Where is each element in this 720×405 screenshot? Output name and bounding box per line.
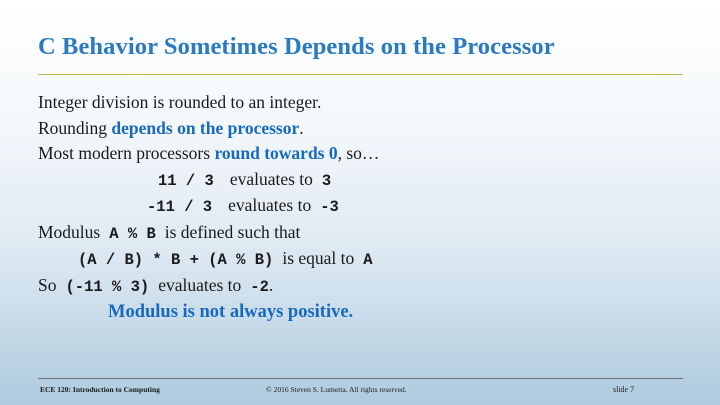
result-3: 3 xyxy=(322,172,331,190)
expr-11-div-3: 11 / 3 xyxy=(158,172,214,190)
body-line-2: Rounding depends on the processor. xyxy=(38,116,688,142)
slide-body: Integer division is rounded to an intege… xyxy=(38,90,688,326)
body-line-5: -11 / 3evaluates to-3 xyxy=(38,193,688,220)
slide: C Behavior Sometimes Depends on the Proc… xyxy=(0,0,720,405)
line5-text: evaluates to xyxy=(228,195,311,215)
footer-copyright: © 2016 Steven S. Lumetta. All rights res… xyxy=(266,385,407,394)
expr-neg11-mod-3: (-11 % 3) xyxy=(65,278,149,296)
line1-text: Integer division is rounded to an intege… xyxy=(38,92,321,112)
line8-period: . xyxy=(269,275,273,295)
line2-suffix: . xyxy=(299,118,303,138)
title-divider xyxy=(38,74,683,75)
line3-suffix: , so… xyxy=(338,143,380,163)
body-line-7: (A / B) * B + (A % B)is equal toA xyxy=(38,246,688,273)
line3-highlight: round towards 0 xyxy=(214,143,337,163)
line2-highlight: depends on the processor xyxy=(111,118,299,138)
line2-prefix: Rounding xyxy=(38,118,111,138)
expr-identity: (A / B) * B + (A % B) xyxy=(78,251,273,269)
body-line-9: Modulus is not always positive. xyxy=(38,299,688,326)
line6-prefix: Modulus xyxy=(38,222,100,242)
line4-text: evaluates to xyxy=(230,169,313,189)
line7-text: is equal to xyxy=(282,248,354,268)
result-neg2: -2 xyxy=(250,278,269,296)
body-line-3: Most modern processors round towards 0, … xyxy=(38,141,688,167)
expr-neg11-div-3: -11 / 3 xyxy=(147,198,212,216)
result-neg3: -3 xyxy=(320,198,339,216)
line6-suffix: is defined such that xyxy=(165,222,301,242)
body-line-8: So(-11 % 3)evaluates to-2. xyxy=(38,273,688,300)
footer-divider xyxy=(38,378,683,379)
body-line-1: Integer division is rounded to an intege… xyxy=(38,90,688,116)
footer-slide-number: slide 7 xyxy=(613,385,634,394)
body-line-6: ModulusA % Bis defined such that xyxy=(38,220,688,247)
conclusion-text: Modulus is not always positive. xyxy=(108,302,353,322)
line3-prefix: Most modern processors xyxy=(38,143,214,163)
footer-course: ECE 120: Introduction to Computing xyxy=(40,385,160,394)
line8-prefix: So xyxy=(38,275,56,295)
operand-a: A xyxy=(363,251,372,269)
page-title: C Behavior Sometimes Depends on the Proc… xyxy=(38,33,555,61)
line8-text: evaluates to xyxy=(158,275,241,295)
expr-a-mod-b: A % B xyxy=(109,225,156,243)
body-line-4: 11 / 3evaluates to3 xyxy=(38,167,688,194)
